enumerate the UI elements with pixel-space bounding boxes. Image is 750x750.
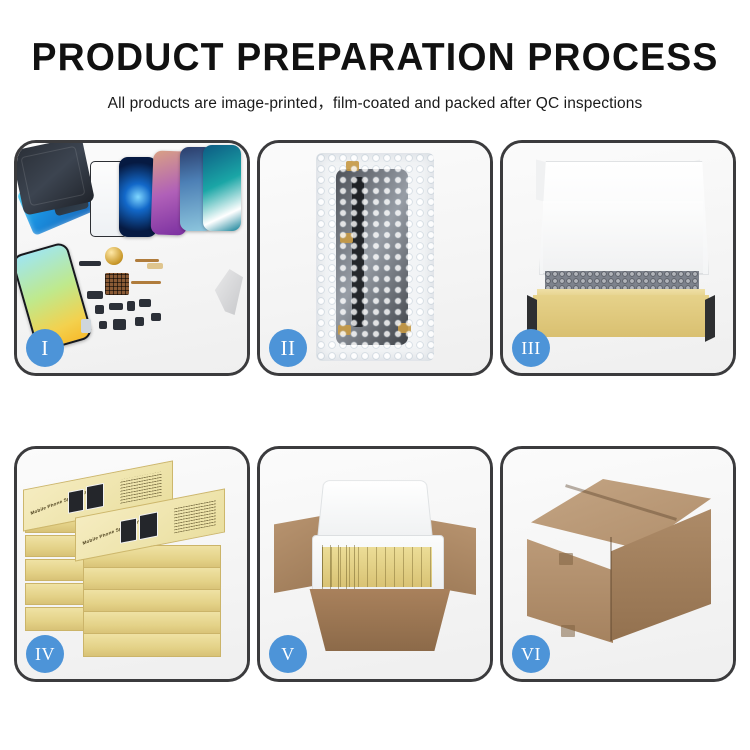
component-chip-6 xyxy=(135,317,144,326)
retail-boxes-inside-vertical xyxy=(322,545,362,589)
retail-box-front-3 xyxy=(83,589,221,613)
retail-box-front-5 xyxy=(83,633,221,657)
carton-vertical-seam xyxy=(610,537,612,641)
process-step-panel-4: Mobile Phone Spare Parts Mobile Phone Sp… xyxy=(14,446,250,682)
component-chip-4 xyxy=(139,299,151,307)
component-bar-1 xyxy=(79,261,101,266)
connector-1 xyxy=(147,263,163,269)
flex-cable-1 xyxy=(135,259,159,262)
page-header: PRODUCT PREPARATION PROCESS All products… xyxy=(0,0,750,113)
flex-cable-2 xyxy=(131,281,161,284)
process-step-panel-1: I xyxy=(14,140,250,376)
step-badge-4: IV xyxy=(26,635,64,673)
retail-box-spec-lines-2 xyxy=(174,500,216,533)
retail-box-window-2a xyxy=(120,518,137,544)
process-step-panel-3: III xyxy=(500,140,736,376)
step-badge-5: V xyxy=(269,635,307,673)
component-chip-3 xyxy=(127,301,135,311)
process-step-panel-6: VI xyxy=(500,446,736,682)
camera-module xyxy=(81,319,91,333)
carton-body xyxy=(300,589,460,651)
process-step-grid: I II III xyxy=(14,140,736,682)
speaker-module xyxy=(105,247,123,265)
retail-box-spec-lines-1 xyxy=(120,472,162,504)
component-bar-2 xyxy=(87,291,103,299)
retail-box-front-2 xyxy=(83,567,221,591)
process-step-panel-2: II xyxy=(257,140,493,376)
box-front-wall xyxy=(533,295,709,337)
process-step-panel-5: V xyxy=(257,446,493,682)
vibration-motor xyxy=(113,319,126,330)
white-foam-sheet xyxy=(543,201,703,274)
page-title: PRODUCT PREPARATION PROCESS xyxy=(15,38,735,77)
component-chip-7 xyxy=(151,313,161,321)
retail-box-window-1b xyxy=(86,483,104,510)
repair-tool xyxy=(213,269,243,315)
step-badge-1: I xyxy=(26,329,64,367)
step-badge-2: II xyxy=(269,329,307,367)
page-subtitle: All products are image-printed，film-coat… xyxy=(0,91,750,113)
step-badge-6: VI xyxy=(512,635,550,673)
retail-box-window-2b xyxy=(139,511,158,540)
retail-box-front-4 xyxy=(83,611,221,635)
phone-screen-teal xyxy=(203,145,241,231)
bubble-wrap-bag xyxy=(316,153,434,361)
retail-box-window-1a xyxy=(68,489,84,514)
carton-tape-patch-2 xyxy=(561,625,575,637)
component-chip-2 xyxy=(109,303,123,310)
step-badge-3: III xyxy=(512,329,550,367)
logic-board-chip xyxy=(105,273,129,295)
carton-tape-patch-1 xyxy=(559,553,573,565)
bubble-texture-overlay xyxy=(316,153,434,361)
component-chip-5 xyxy=(99,321,107,329)
component-chip-1 xyxy=(95,305,104,314)
